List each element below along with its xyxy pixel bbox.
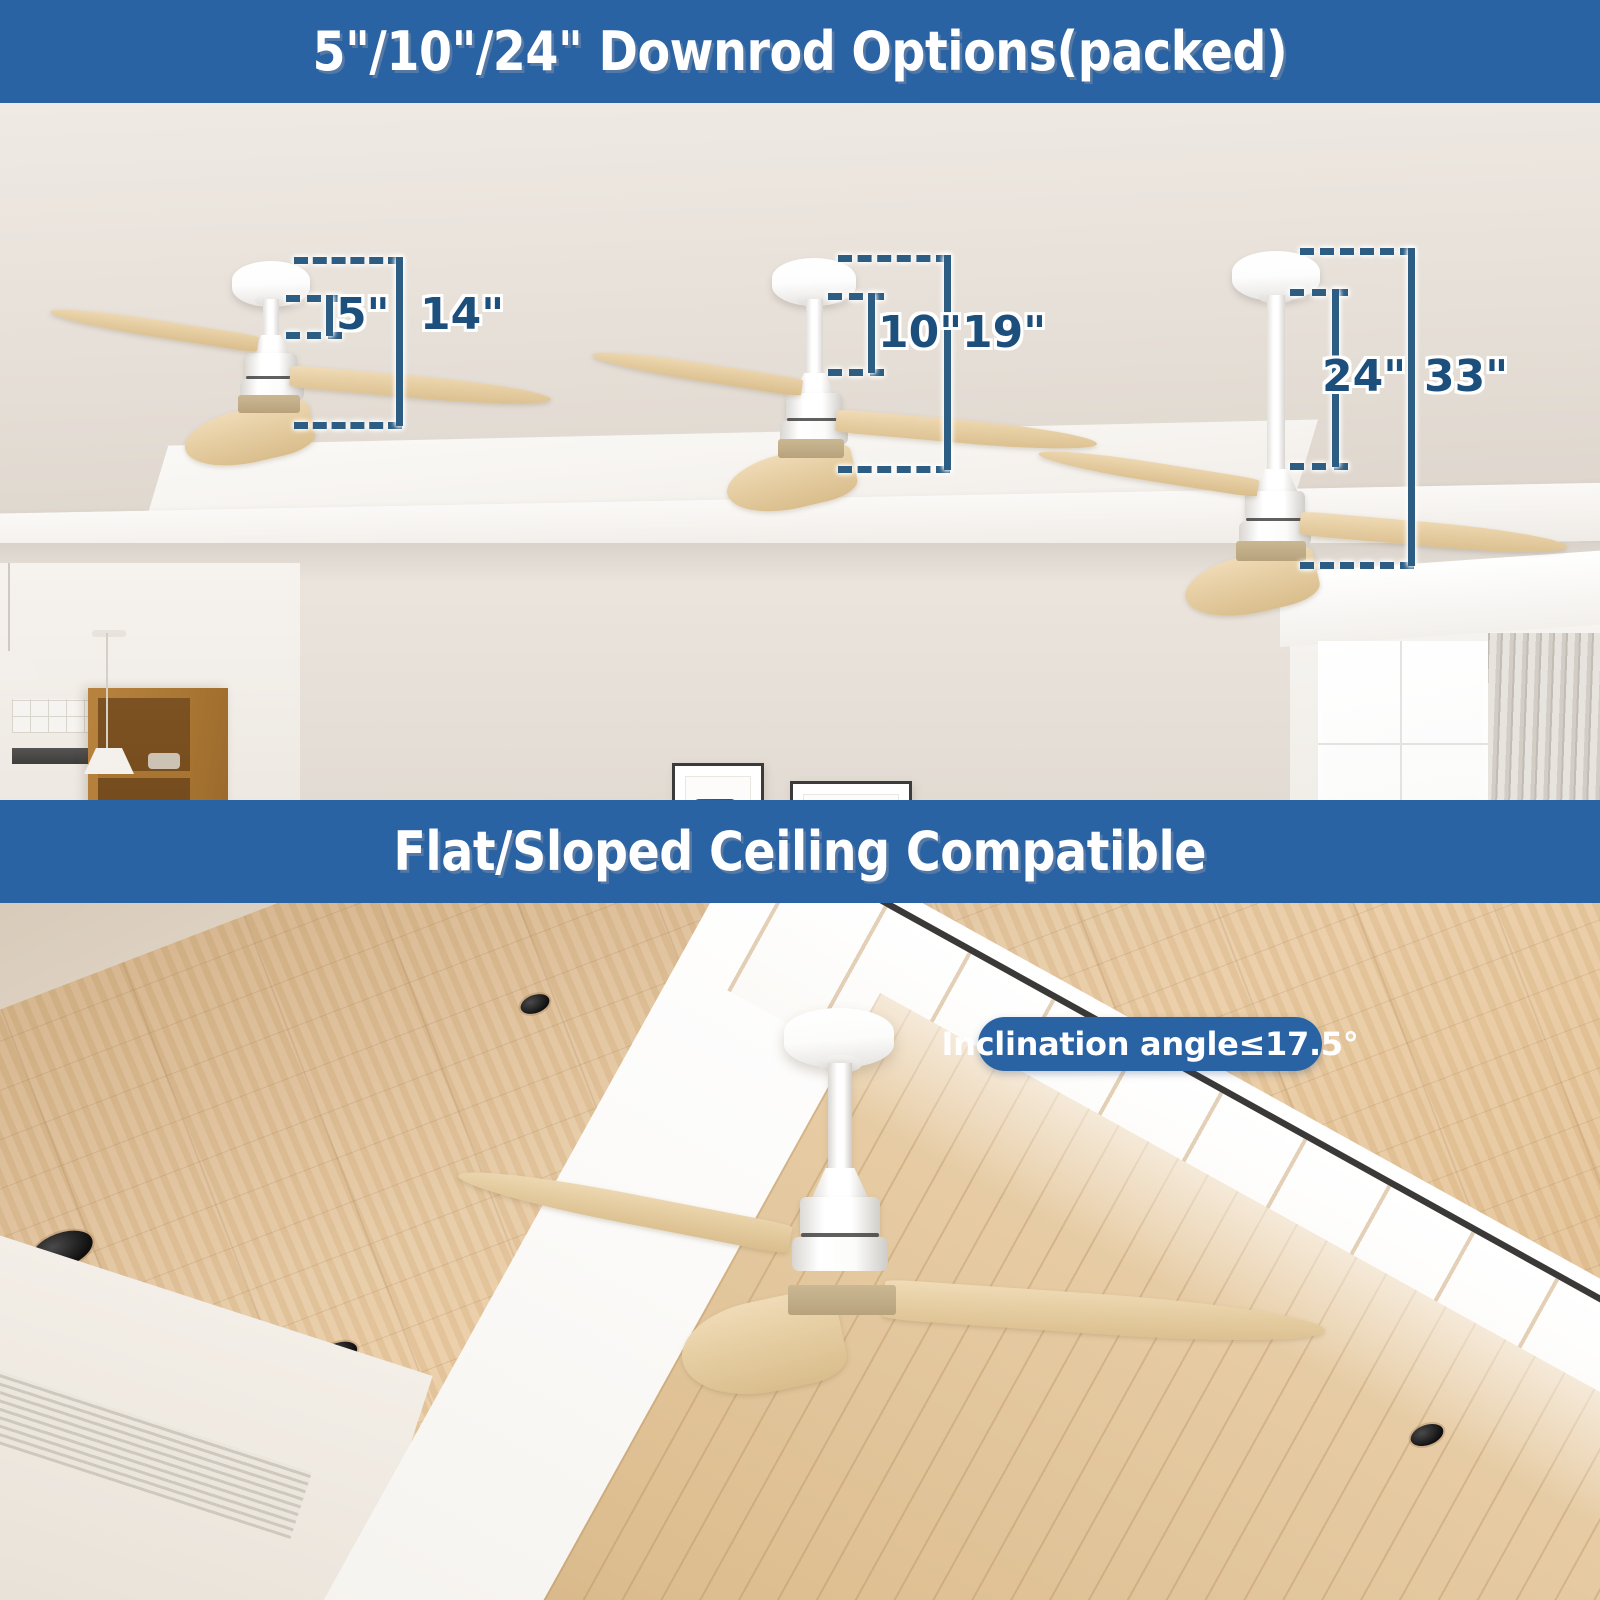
window-glass <box>1318 641 1488 800</box>
pendant-light-cord <box>8 563 10 658</box>
dimension-guide-bottom <box>1300 562 1414 569</box>
downrod-options-banner: 5"/10"/24" Downrod Options(packed) <box>0 0 1600 103</box>
total-drop-measure-bar <box>396 257 403 426</box>
cabinet-bowl <box>148 753 180 769</box>
downrod-measure-bar <box>868 293 875 373</box>
fan-downrod <box>263 299 279 341</box>
downrod-length-label: 24" <box>1322 351 1406 402</box>
dimension-guide-bottom <box>294 422 402 429</box>
fan-motor-housing <box>786 393 842 421</box>
fan-blade-hub <box>238 395 300 413</box>
window-curtain <box>1488 633 1600 800</box>
sloped-ceiling-scene: Inclination angle≤17.5° <box>0 903 1600 1600</box>
downrod-comparison-scene: 5" 14" 10" 19" <box>0 103 1600 800</box>
downrod-length-label: 10" <box>878 307 962 358</box>
dimension-guide-bottom <box>838 466 950 473</box>
fan-downrod <box>1267 295 1285 475</box>
total-drop-label: 19" <box>962 307 1046 358</box>
downrod-guide-top <box>1290 289 1348 296</box>
dimension-guide-top <box>294 257 402 264</box>
fan-motor-housing <box>800 1197 880 1237</box>
downrod-measure-bar <box>326 295 333 336</box>
downrod-guide-top <box>828 293 884 300</box>
fan-downrod <box>806 299 823 379</box>
kitchen-vent <box>12 748 100 764</box>
inclination-angle-badge-text: Inclination angle≤17.5° <box>942 1025 1359 1063</box>
wall-art-frame <box>790 781 912 800</box>
pendant-light-cord <box>106 633 108 753</box>
fan-on-sloped-ceiling <box>0 903 1600 1600</box>
downrod-guide-bottom <box>828 369 884 376</box>
total-drop-measure-bar <box>1408 248 1415 566</box>
inclination-angle-badge: Inclination angle≤17.5° <box>978 1017 1322 1071</box>
dimension-guide-top <box>1300 248 1414 255</box>
total-drop-measure-bar <box>944 255 951 470</box>
window-mullion <box>1318 743 1488 745</box>
downrod-guide-top <box>286 295 342 302</box>
dimension-guide-top <box>838 255 950 262</box>
window-mullion <box>1400 641 1402 800</box>
downrod-options-banner-title: 5"/10"/24" Downrod Options(packed) <box>313 20 1288 83</box>
downrod-guide-bottom <box>286 332 342 339</box>
fan-blade-hub <box>788 1285 896 1315</box>
fan-blade-hub <box>778 439 844 458</box>
ceiling-compatible-banner: Flat/Sloped Ceiling Compatible <box>0 800 1600 903</box>
frame-mat <box>685 776 751 800</box>
fan-blade <box>455 1161 793 1255</box>
downrod-length-label: 5" <box>336 289 390 340</box>
downrod-guide-bottom <box>1290 463 1348 470</box>
fan-downrod <box>828 1063 852 1175</box>
ceiling-compatible-banner-title: Flat/Sloped Ceiling Compatible <box>394 820 1207 883</box>
total-drop-label: 14" <box>420 289 504 340</box>
fan-blade <box>883 1279 1327 1350</box>
fan-blade-hub <box>1236 541 1306 561</box>
wall-art-frame <box>672 763 764 800</box>
product-infographic: 5"/10"/24" Downrod Options(packed) <box>0 0 1600 1600</box>
pendant-light-canopy <box>92 630 126 637</box>
total-drop-label: 33" <box>1424 351 1508 402</box>
fan-motor-base <box>792 1237 888 1271</box>
